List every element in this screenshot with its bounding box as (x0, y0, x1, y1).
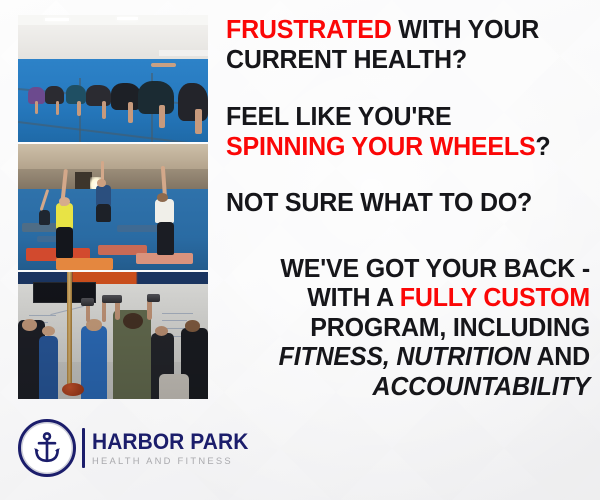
emphasis-text: FITNESS, NUTRITION (279, 343, 531, 371)
headline-line: WITH A FULLY CUSTOM (233, 284, 590, 314)
headline-line: WE'VE GOT YOUR BACK - (233, 255, 590, 285)
headline-line: FITNESS, NUTRITION AND (233, 343, 590, 373)
highlight-text: FRUSTRATED (226, 16, 392, 44)
brand-name: HARBOR PARK (92, 430, 248, 453)
copy-gap (226, 219, 590, 255)
headline-line: CURRENT HEALTH? (226, 46, 583, 76)
copy-gap (226, 75, 590, 103)
photo-dumbbell-press (18, 272, 208, 399)
anchor-emblem (18, 419, 76, 477)
body-text: FEEL LIKE YOU'RE (226, 103, 451, 131)
headline-block-4: WE'VE GOT YOUR BACK -WITH A FULLY CUSTOM… (226, 255, 590, 403)
logo-divider (82, 428, 85, 468)
highlight-text: FULLY CUSTOM (400, 284, 590, 312)
body-text: PROGRAM, INCLUDING (310, 314, 590, 342)
body-text: ? (535, 133, 550, 161)
highlight-text: SPINNING YOUR WHEELS (226, 133, 535, 161)
photo-yoga-class (18, 144, 208, 271)
headline-line: PROGRAM, INCLUDING (233, 314, 590, 344)
anchor-icon (30, 431, 64, 465)
copy-gap (226, 162, 590, 189)
emphasis-text: ACCOUNTABILITY (372, 373, 590, 401)
headline-line: FRUSTRATED WITH YOUR (226, 16, 583, 46)
body-text: WITH YOUR (392, 16, 540, 44)
body-text: AND (531, 343, 590, 371)
body-text: CURRENT HEALTH? (226, 46, 467, 74)
headline-block-1: FRUSTRATED WITH YOURCURRENT HEALTH? (226, 16, 590, 75)
body-text: WE'VE GOT YOUR BACK - (280, 255, 590, 283)
brand-logo: HARBOR PARK HEALTH AND FITNESS (18, 412, 218, 484)
photo-stack (18, 15, 208, 399)
body-text: WITH A (307, 284, 400, 312)
headline-line: ACCOUNTABILITY (233, 373, 590, 403)
photo-group-plank (18, 15, 208, 142)
headline-line: SPINNING YOUR WHEELS? (226, 133, 583, 163)
headline-block-3: NOT SURE WHAT TO DO? (226, 189, 590, 219)
headline-line: NOT SURE WHAT TO DO? (226, 189, 583, 219)
headline-line: FEEL LIKE YOU'RE (226, 103, 583, 133)
headline-block-2: FEEL LIKE YOU'RESPINNING YOUR WHEELS? (226, 103, 590, 162)
fitness-advertisement: HARBOR PARK HEALTH AND FITNESS FRUSTRATE… (0, 0, 600, 500)
ad-copy: FRUSTRATED WITH YOURCURRENT HEALTH? FEEL… (226, 10, 590, 492)
body-text: NOT SURE WHAT TO DO? (226, 189, 532, 217)
